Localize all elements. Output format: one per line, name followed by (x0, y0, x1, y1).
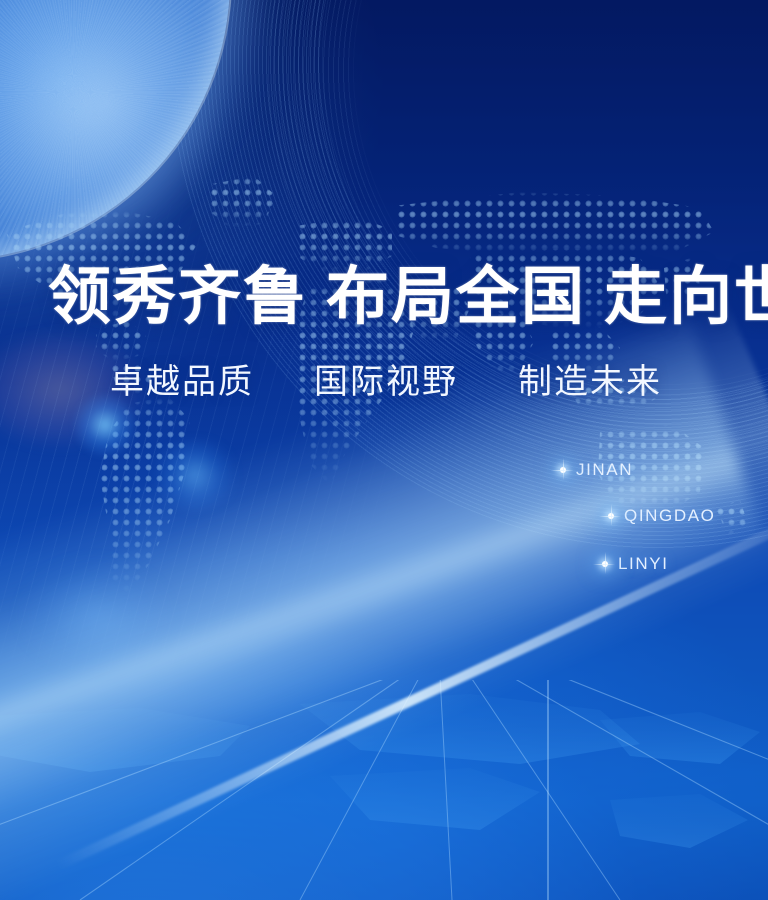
subline-part-1: 卓越品质 (110, 364, 254, 401)
globe-sphere (0, 0, 230, 260)
city-label-linyi: LINYI (618, 554, 669, 574)
globe-rim-glow (0, 0, 232, 262)
city-marker-linyi[interactable]: LINYI (602, 554, 669, 574)
perspective-grid (0, 680, 768, 900)
location-dot-icon (608, 513, 614, 519)
subline-part-2: 国际视野 (314, 364, 458, 401)
headline-part-2: 布局全国 (326, 262, 586, 332)
glow-spot-b (150, 440, 240, 510)
headline-part-1: 领秀齐鲁 (48, 262, 308, 332)
city-label-qingdao: QINGDAO (624, 506, 716, 526)
subline-part-3: 制造未来 (518, 364, 662, 401)
banner-headline: 领秀齐鲁布局全国走向世界 (48, 266, 768, 329)
glow-spot-a (72, 392, 138, 458)
diagonal-hairlines (0, 164, 494, 757)
glow-spot-c (20, 560, 170, 670)
location-dot-icon (602, 561, 608, 567)
globe-flare (0, 0, 230, 260)
headline-part-3: 走向世界 (604, 262, 768, 332)
city-marker-jinan[interactable]: JINAN (560, 460, 633, 480)
city-label-jinan: JINAN (576, 460, 633, 480)
location-dot-icon (560, 467, 566, 473)
city-marker-qingdao[interactable]: QINGDAO (608, 506, 716, 526)
banner-stage: 领秀齐鲁布局全国走向世界 卓越品质国际视野制造未来 JINAN QINGDAO … (0, 0, 768, 900)
banner-subline: 卓越品质国际视野制造未来 (110, 366, 662, 400)
